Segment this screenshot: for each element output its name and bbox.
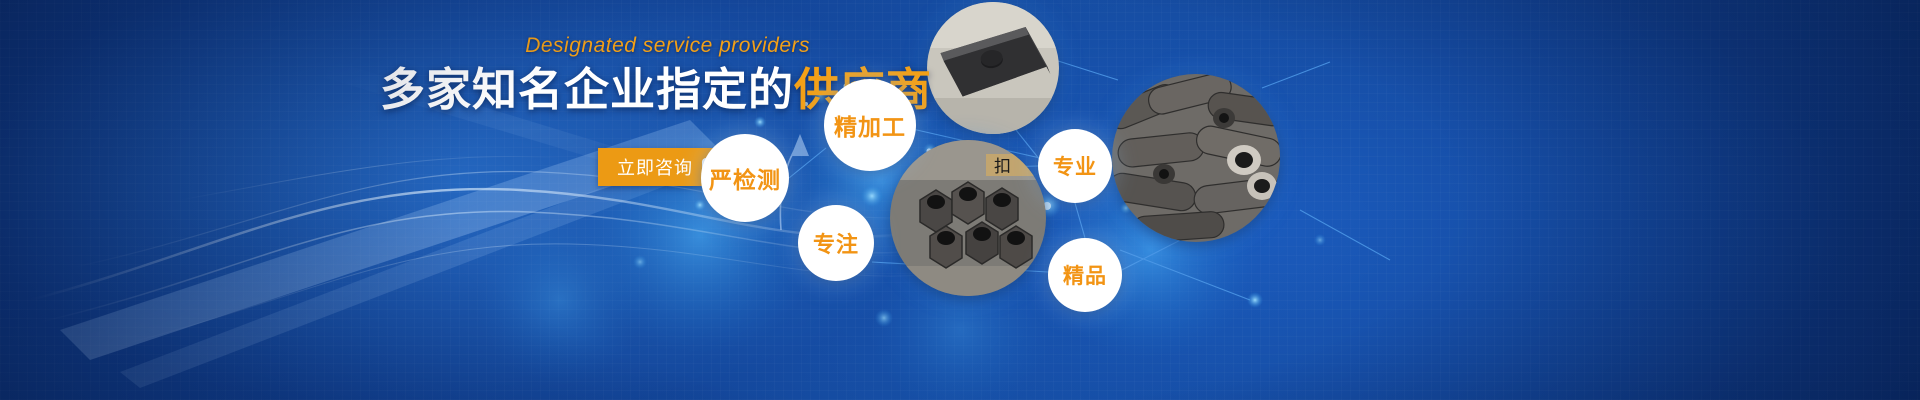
tag-circle-yan-jian-ce[interactable]: 严检测 (701, 134, 789, 222)
hex-bar-ends-photo: 扣 (890, 140, 1046, 296)
hex-bars-image: 扣 (890, 140, 1046, 296)
eyebrow-english: Designated service providers (380, 34, 810, 58)
steel-plate-photo (927, 2, 1059, 134)
page-title: 多家知名企业指定的供应商 (380, 64, 810, 116)
headline-white-part: 多家知名企业指定的 (380, 64, 794, 115)
tag-circle-jing-jia-gong[interactable]: 精加工 (824, 79, 916, 171)
steel-tubes-photo (1112, 74, 1280, 242)
hero-banner: 扣 (0, 0, 1920, 400)
tag-circle-label: 精品 (1063, 260, 1107, 290)
consult-now-label: 立即咨询 (617, 154, 693, 180)
tag-circle-label: 严检测 (709, 161, 781, 195)
steel-plate-image (927, 2, 1059, 134)
steel-tubes-image (1112, 74, 1280, 242)
tag-circle-jing-pin[interactable]: 精品 (1048, 238, 1122, 312)
headline-block: Designated service providers 多家知名企业指定的供应… (380, 34, 810, 116)
tag-circle-label: 专业 (1053, 151, 1097, 181)
svg-text:扣: 扣 (994, 157, 1011, 177)
tag-circle-zhuan-ye[interactable]: 专业 (1038, 129, 1112, 203)
tag-circle-label: 精加工 (834, 108, 906, 142)
tag-circle-zhuan-zhu[interactable]: 专注 (798, 205, 874, 281)
tag-circle-label: 专注 (813, 227, 859, 259)
